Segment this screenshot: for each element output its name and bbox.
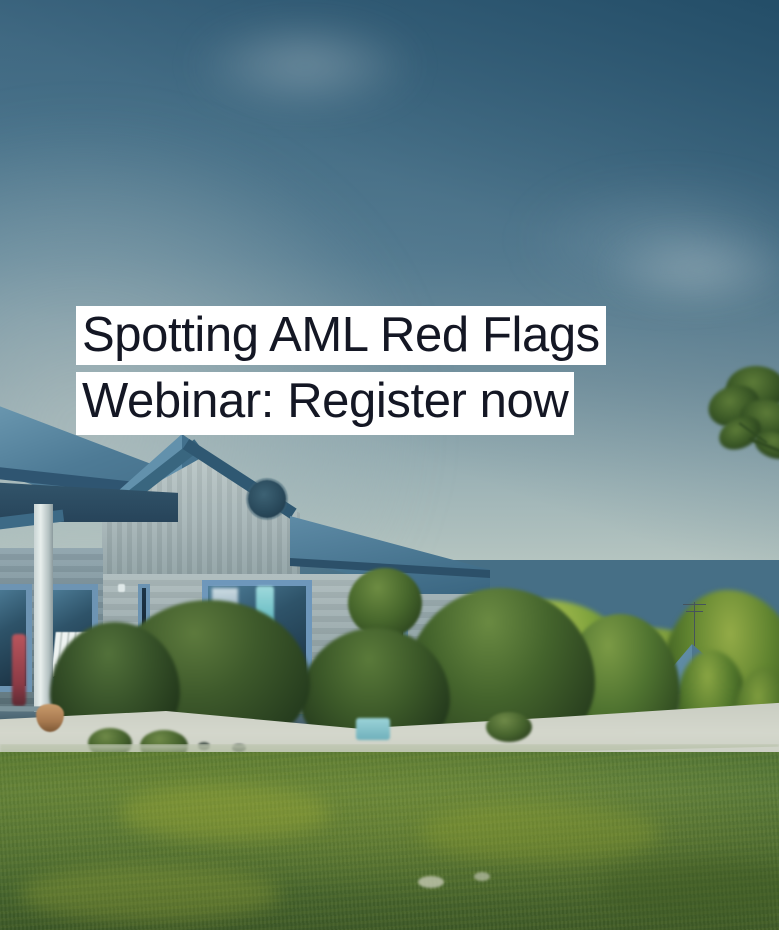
gable-vent-medallion-icon (248, 480, 286, 518)
wall-lamp-icon (118, 584, 125, 592)
promotional-hero-banner[interactable]: Spotting AML Red Flags Webinar: Register… (0, 0, 779, 930)
garden-ornament (356, 718, 390, 740)
cloud-wisp-icon (190, 20, 420, 110)
red-drape (12, 634, 26, 706)
pine-branch (700, 360, 779, 540)
tv-antenna-icon (694, 602, 695, 646)
topiary-ball (348, 568, 422, 638)
lawn-stone (418, 876, 444, 888)
banner-headline[interactable]: Spotting AML Red Flags Webinar: Register… (76, 306, 606, 435)
lawn-patch (20, 866, 280, 922)
mini-shrub (486, 712, 532, 742)
lawn-patch (420, 804, 660, 862)
lawn-stone (474, 872, 490, 881)
headline-line-2: Webinar: Register now (76, 372, 574, 435)
cloud-wisp-icon (600, 230, 779, 310)
lawn-patch (120, 786, 330, 840)
headline-line-1: Spotting AML Red Flags (76, 306, 606, 365)
